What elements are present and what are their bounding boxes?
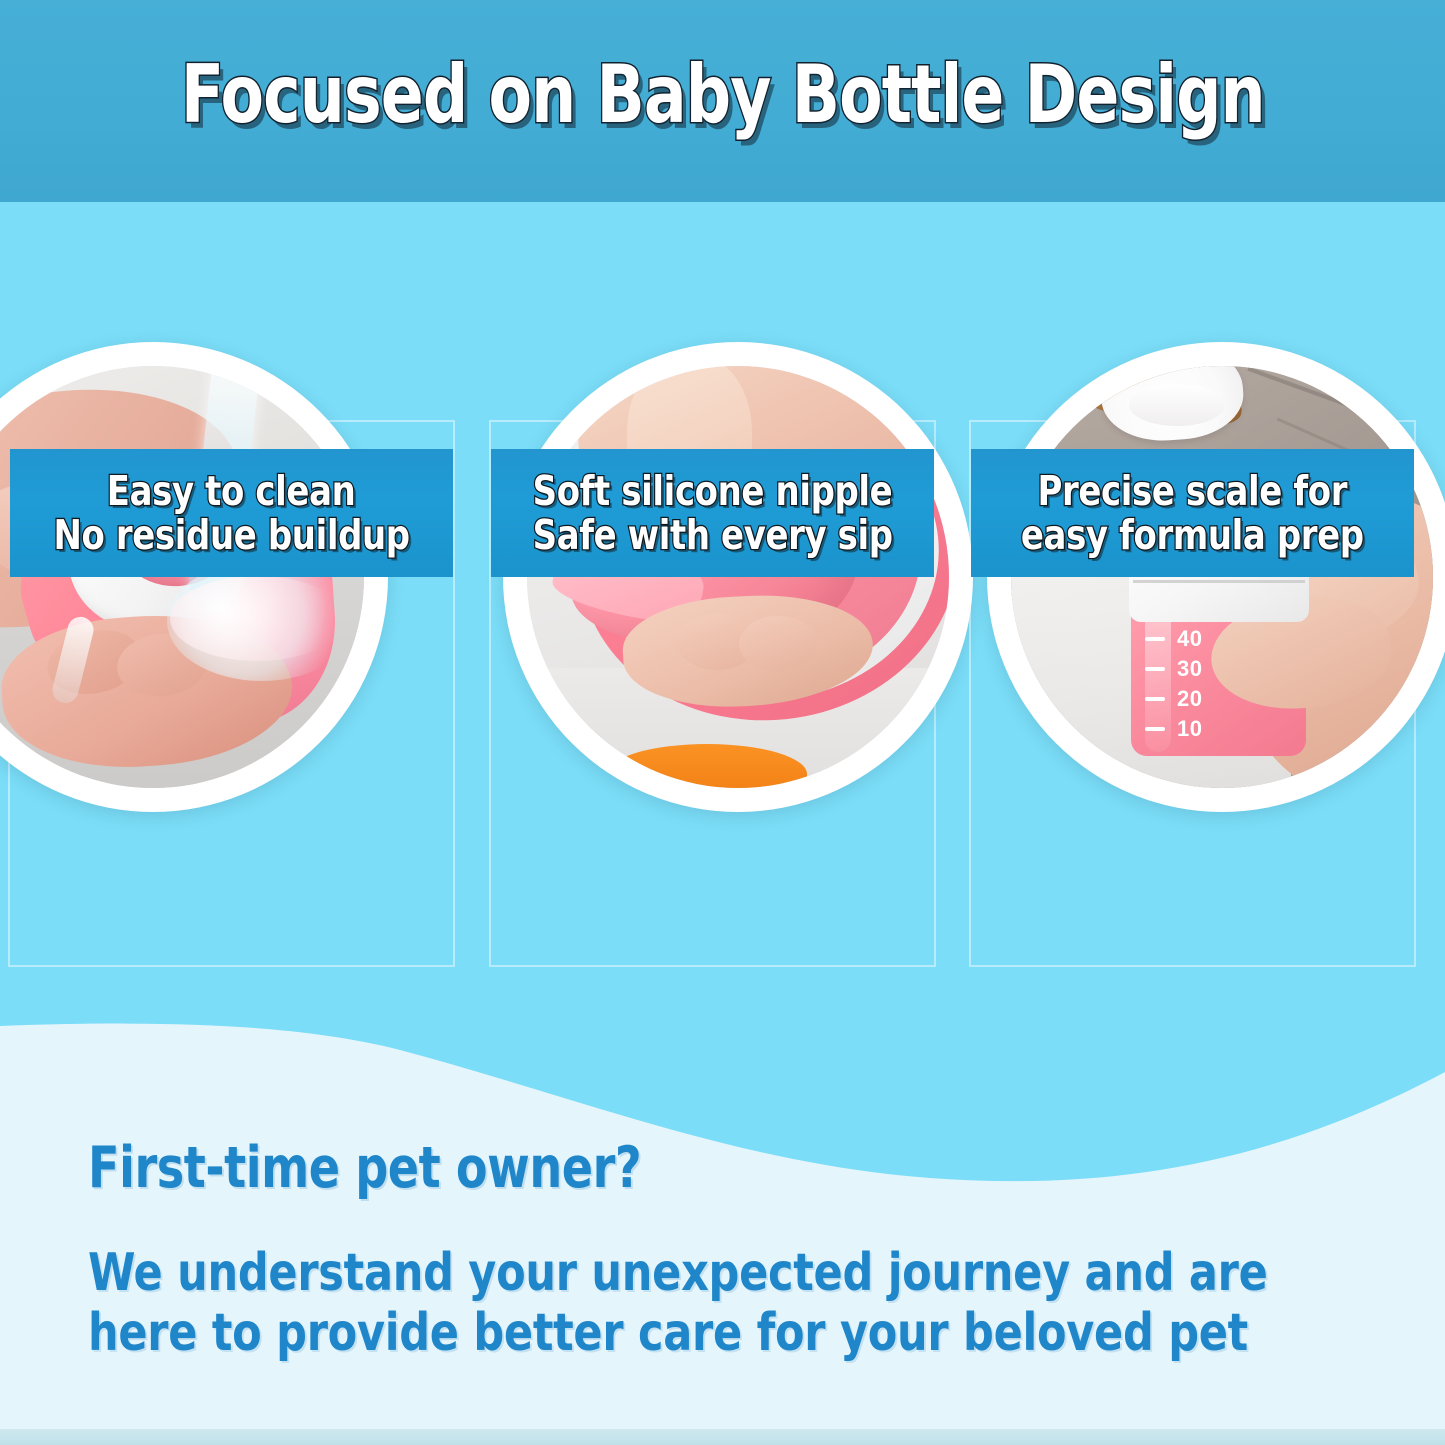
scale-tick-icon bbox=[1145, 727, 1165, 731]
photo-squeezing-nipple: 40 bbox=[527, 366, 949, 788]
photo-circle-precise-scale: 40 30 20 10 bbox=[987, 342, 1445, 812]
scale-value: 20 bbox=[1177, 686, 1202, 712]
feature-panel-easy-to-clean: Easy to clean No residue buildup bbox=[8, 202, 455, 967]
caption-line-1: Easy to clean bbox=[107, 469, 356, 513]
caption-band-soft-nipple: Soft silicone nipple Safe with every sip bbox=[491, 449, 934, 577]
feature-panels-area: Easy to clean No residue buildup 40 bbox=[0, 202, 1445, 1062]
caption-line-1: Precise scale for bbox=[1038, 469, 1348, 513]
header-band: Focused on Baby Bottle Design bbox=[0, 0, 1445, 202]
photo-washing-bottle bbox=[0, 366, 364, 788]
scale-tick-icon bbox=[1145, 637, 1165, 641]
feature-panel-soft-nipple: 40 Soft silicone nipple Safe wit bbox=[489, 202, 936, 967]
photo-circle-soft-nipple: 40 bbox=[503, 342, 973, 812]
photo-inner: 40 bbox=[527, 366, 949, 788]
bottom-edge-strip bbox=[0, 1429, 1445, 1445]
page-title: Focused on Baby Bottle Design bbox=[181, 55, 1265, 135]
caption-line-1: Soft silicone nipple bbox=[533, 469, 893, 513]
caption-line-2: Safe with every sip bbox=[532, 513, 892, 557]
caption-line-2: No residue buildup bbox=[53, 513, 409, 557]
product-infographic: Focused on Baby Bottle Design bbox=[0, 0, 1445, 1445]
bottom-body-text: We understand your unexpected journey an… bbox=[88, 1244, 1268, 1364]
feature-panel-precise-scale: 40 30 20 10 bbox=[969, 202, 1416, 967]
scale-row: 10 bbox=[1145, 714, 1255, 744]
finger-shape bbox=[739, 616, 817, 672]
bottom-body-line-1: We understand your unexpected journey an… bbox=[88, 1244, 1268, 1304]
caption-band-precise-scale: Precise scale for easy formula prep bbox=[971, 449, 1414, 577]
scale-value: 10 bbox=[1177, 716, 1202, 742]
water-foam bbox=[170, 576, 345, 661]
scale-tick-icon bbox=[1145, 667, 1165, 671]
photo-formula-scoop: 40 30 20 10 bbox=[1011, 366, 1433, 788]
bottom-body-line-2: here to provide better care for your bel… bbox=[88, 1304, 1268, 1364]
photo-inner: 40 30 20 10 bbox=[1011, 366, 1433, 788]
caption-band-easy-to-clean: Easy to clean No residue buildup bbox=[10, 449, 453, 577]
bottom-lead-text: First-time pet owner? bbox=[88, 1140, 641, 1197]
photo-inner bbox=[0, 366, 364, 788]
bottom-message-section: First-time pet owner? We understand your… bbox=[0, 1020, 1445, 1445]
scale-value: 30 bbox=[1177, 656, 1202, 682]
scale-tick-icon bbox=[1145, 697, 1165, 701]
photo-circle-easy-to-clean bbox=[0, 342, 388, 812]
caption-line-2: easy formula prep bbox=[1021, 513, 1364, 557]
neck-thread-line bbox=[1133, 580, 1305, 583]
scale-value: 40 bbox=[1177, 626, 1202, 652]
formula-powder-highlight bbox=[1129, 384, 1225, 426]
